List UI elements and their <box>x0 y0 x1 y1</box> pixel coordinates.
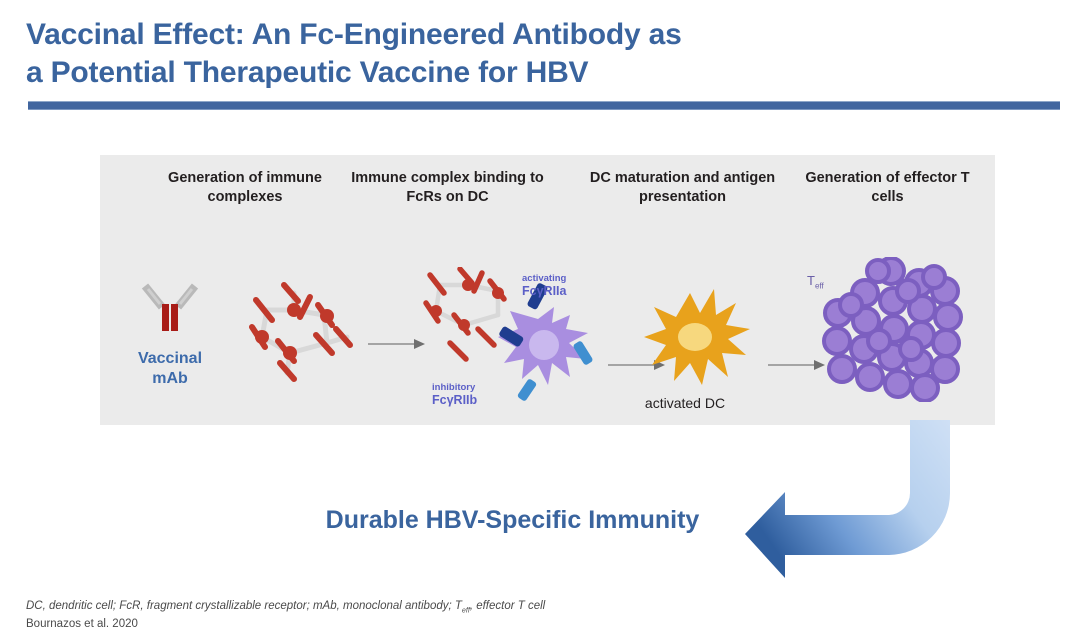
activating-receptor-label-big: FcγRIIa <box>522 284 566 299</box>
vaccinal-mab-group: Vaccinal mAb <box>110 280 230 389</box>
outcome-bent-arrow-icon <box>745 418 975 578</box>
stage-arrow-1-icon <box>368 337 426 351</box>
column-header-generation-of-immune-complexes: Generation of immune complexes <box>150 169 340 208</box>
antibody-icon <box>135 280 205 342</box>
effector-t-cell-label-main: T <box>807 273 815 288</box>
footnote-citation: Bournazos et al. 2020 <box>26 618 138 630</box>
column-header-dc-maturation: DC maturation and antigen presentation <box>575 169 790 208</box>
inhibitory-receptor-label: inhibitory FcγRIIb <box>432 382 477 408</box>
inhibitory-receptor-label-big: FcγRIIb <box>432 393 477 408</box>
activating-receptor-label-small: activating <box>522 273 566 284</box>
footnote-abbreviations: DC, dendritic cell; FcR, fragment crysta… <box>26 600 545 614</box>
column-header-effector-t-cells: Generation of effector T cells <box>800 169 975 208</box>
activated-dendritic-cell-icon <box>640 285 755 395</box>
footnote-abbreviations-sub: eff <box>462 606 470 614</box>
page-title: Vaccinal Effect: An Fc-Engineered Antibo… <box>26 16 1046 93</box>
vaccinal-mab-label: Vaccinal mAb <box>110 349 230 389</box>
vaccinal-mab-label-line-1: Vaccinal <box>110 349 230 369</box>
column-header-immune-complex-binding: Immune complex binding to FcRs on DC <box>345 169 550 208</box>
dendritic-cell-nucleus <box>529 330 559 360</box>
effector-t-cell-cluster-icon <box>818 257 978 402</box>
page-title-line-1: Vaccinal Effect: An Fc-Engineered Antibo… <box>26 16 1046 54</box>
footnote-abbreviations-pre: DC, dendritic cell; FcR, fragment crysta… <box>26 600 462 612</box>
immune-complex-lattice-icon <box>232 275 362 395</box>
activated-dc-label: activated DC <box>600 395 770 411</box>
outcome-statement: Durable HBV-Specific Immunity <box>285 506 740 535</box>
page-title-line-2: a Potential Therapeutic Vaccine for HBV <box>26 54 1046 92</box>
inhibitory-receptor-label-small: inhibitory <box>432 382 477 393</box>
title-divider <box>28 101 1060 110</box>
pathway-diagram-panel: Generation of immune complexes Immune co… <box>100 155 995 425</box>
footnote-abbreviations-post: , effector T cell <box>470 600 545 612</box>
vaccinal-mab-label-line-2: mAb <box>110 369 230 389</box>
activating-receptor-label: activating FcγRIIa <box>522 273 566 299</box>
